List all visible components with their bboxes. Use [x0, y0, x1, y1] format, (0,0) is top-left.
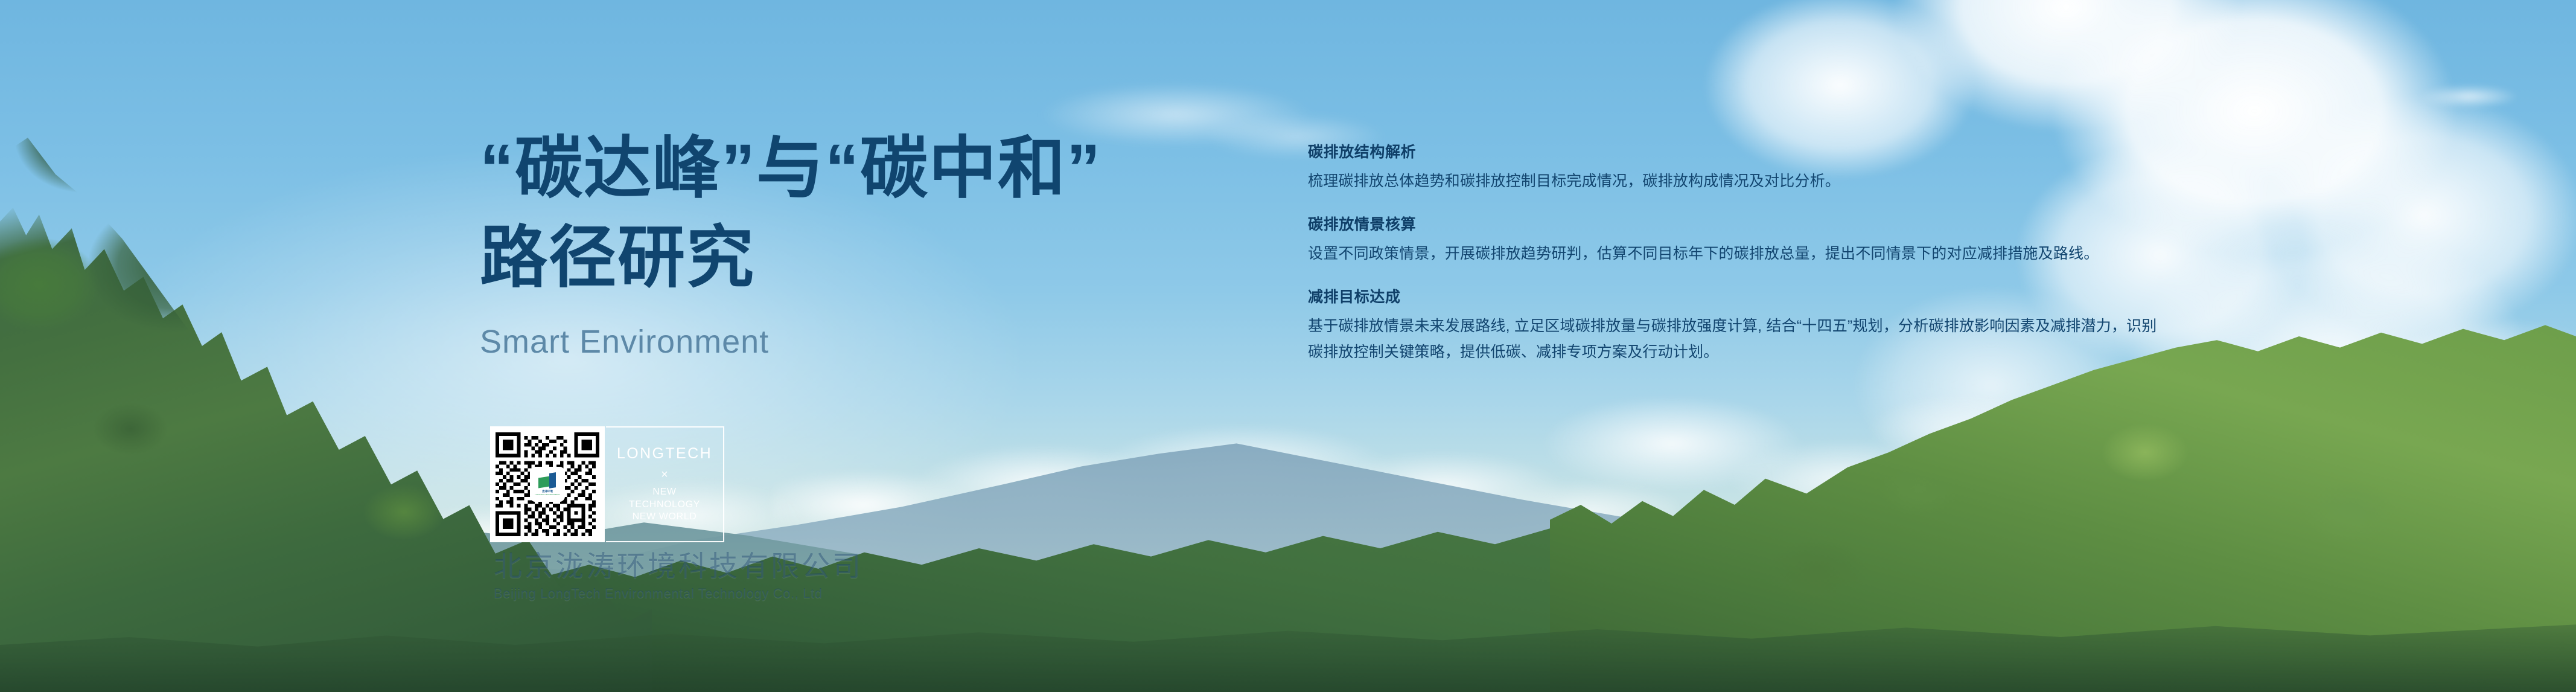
headline-subtitle: Smart Environment	[480, 323, 1101, 360]
logo-glyph	[538, 473, 556, 489]
section-title: 碳排放结构解析	[1308, 140, 2165, 162]
longtech-logo-mark: 泷涛环境 LONGTECH ENVIRONMENT	[531, 468, 564, 501]
section-title: 减排目标达成	[1308, 285, 2165, 307]
logo-cn-text: 泷涛环境	[542, 490, 553, 493]
watermark-en: Beijing LongTech Environmental Technolog…	[494, 586, 863, 601]
section-body: 设置不同政策情景，开展碳排放趋势研判，估算不同目标年下的碳排放总量，提出不同情景…	[1308, 241, 2165, 267]
brand-name: LONGTECH	[617, 445, 712, 463]
section-reduction-target: 减排目标达成 基于碳排放情景未来发展路线, 立足区域碳排放量与碳排放强度计算, …	[1308, 285, 2165, 365]
qr-code-container[interactable]: 泷涛环境 LONGTECH ENVIRONMENT	[490, 426, 605, 542]
brand-tagline-line-2: TECHNOLOGY	[629, 499, 700, 511]
hero-banner: “碳达峰”与“碳中和” 路径研究 Smart Environment	[0, 0, 2576, 692]
section-body: 梳理碳排放总体趋势和碳排放控制目标完成情况，碳排放构成情况及对比分析。	[1308, 168, 2165, 194]
section-scenario-accounting: 碳排放情景核算 设置不同政策情景，开展碳排放趋势研判，估算不同目标年下的碳排放总…	[1308, 213, 2165, 267]
section-emission-structure: 碳排放结构解析 梳理碳排放总体趋势和碳排放控制目标完成情况，碳排放构成情况及对比…	[1308, 140, 2165, 194]
logo-blue-shape	[549, 472, 556, 489]
watermark-cn: 北京泷涛环境科技有限公司	[494, 551, 863, 582]
qr-brand-card: 泷涛环境 LONGTECH ENVIRONMENT LONGTECH × NEW…	[490, 426, 724, 542]
company-watermark: 北京泷涛环境科技有限公司 Beijing LongTech Environmen…	[494, 551, 863, 601]
brand-panel: LONGTECH × NEW TECHNOLOGY NEW WORLD	[606, 426, 724, 542]
headline-line-1: “碳达峰”与“碳中和”	[480, 124, 1101, 213]
logo-green-shape	[538, 476, 550, 488]
brand-tagline-line-1: NEW	[629, 486, 700, 499]
section-title: 碳排放情景核算	[1308, 213, 2165, 234]
section-body: 基于碳排放情景未来发展路线, 立足区域碳排放量与碳排放强度计算, 结合“十四五”…	[1308, 313, 2165, 365]
logo-en-text: LONGTECH ENVIRONMENT	[535, 494, 560, 496]
feature-sections: 碳排放结构解析 梳理碳排放总体趋势和碳排放控制目标完成情况，碳排放构成情况及对比…	[1308, 140, 2165, 365]
brand-separator-icon: ×	[661, 468, 668, 482]
brand-tagline: NEW TECHNOLOGY NEW WORLD	[629, 486, 700, 524]
headline-line-2: 路径研究	[480, 213, 1101, 303]
brand-tagline-line-3: NEW WORLD	[629, 511, 700, 524]
qr-code[interactable]: 泷涛环境 LONGTECH ENVIRONMENT	[496, 432, 599, 537]
headline-block: “碳达峰”与“碳中和” 路径研究 Smart Environment	[480, 124, 1101, 360]
